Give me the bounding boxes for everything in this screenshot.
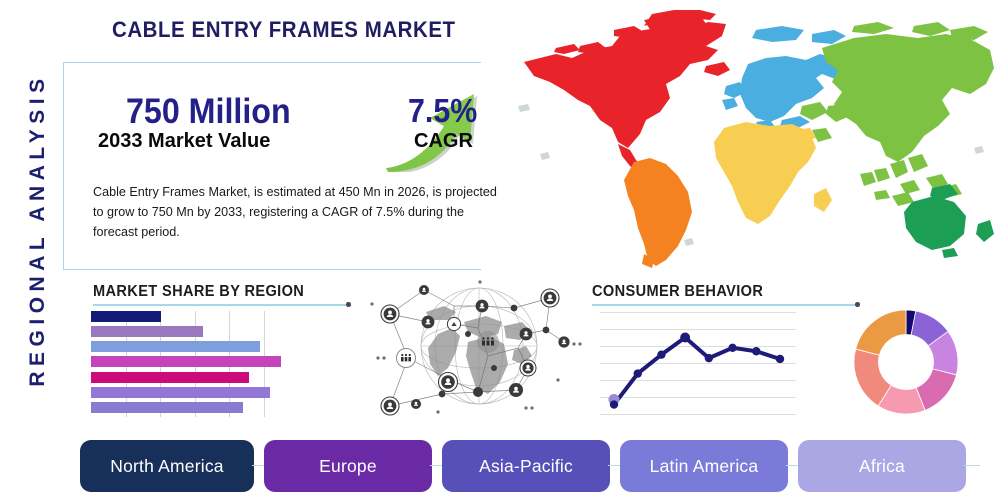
bar-chart-bar[interactable]: [91, 356, 281, 367]
section-rule: [93, 304, 347, 306]
line-chart-plot: [600, 312, 796, 416]
bar-chart-bar[interactable]: [91, 326, 203, 337]
rule-end-dot: [346, 302, 351, 307]
region-pill-asia-pacific[interactable]: Asia-Pacific: [442, 440, 610, 492]
cagr-figure: 7.5%: [408, 92, 477, 130]
segment-donut-chart: Segment 1: 3Segment 2: 12Segment 3: 14Se…: [852, 308, 960, 416]
bar-track: [91, 311, 281, 322]
rule-end-dot: [855, 302, 860, 307]
kpi-row: 750 Million 2033 Market Value 7.5% CAGR: [78, 92, 498, 170]
line-chart-marker[interactable]: [634, 369, 642, 377]
region-pill-label: Asia-Pacific: [479, 456, 573, 477]
cagr-caption: CAGR: [414, 130, 473, 153]
line-chart-marker[interactable]: [776, 355, 784, 363]
region-pill-label: Europe: [319, 456, 377, 477]
line-chart-marker[interactable]: [680, 332, 690, 342]
line-chart-marker[interactable]: [705, 354, 713, 362]
bar-chart-bar[interactable]: [91, 311, 161, 322]
line-chart-marker[interactable]: [728, 344, 736, 352]
bar-chart-bar[interactable]: [91, 372, 249, 383]
line-chart-marker[interactable]: [657, 350, 665, 358]
bar-track: [91, 326, 281, 337]
regional-analysis-label: REGIONAL ANALYSIS: [26, 20, 50, 440]
bar-chart-bar[interactable]: [91, 387, 270, 398]
page-title: CABLE ENTRY FRAMES MARKET: [112, 17, 456, 43]
bar-chart-bar[interactable]: [91, 402, 243, 413]
region-pill-label: Africa: [859, 456, 905, 477]
region-pill-label: North America: [110, 456, 223, 477]
region-pill-north-america[interactable]: North America: [80, 440, 254, 492]
market-share-title: MARKET SHARE BY REGION: [93, 283, 332, 301]
market-description: Cable Entry Frames Market, is estimated …: [93, 182, 497, 242]
market-value-figure: 750 Million: [126, 92, 291, 132]
consumer-behavior-line-chart: [600, 312, 796, 416]
line-chart-marker[interactable]: [610, 400, 618, 408]
section-rule: [592, 304, 856, 306]
donut-plot: Segment 1: 3Segment 2: 12Segment 3: 14Se…: [852, 308, 960, 416]
bar-track: [91, 356, 281, 367]
infographic-root: REGIONAL ANALYSIS CABLE ENTRY FRAMES MAR…: [0, 0, 1000, 500]
bar-track: [91, 387, 281, 398]
bar-track: [91, 402, 281, 413]
side-label: REGIONAL ANALYSIS: [0, 0, 58, 500]
region-pill-europe[interactable]: Europe: [264, 440, 432, 492]
consumer-behavior-section-header: CONSUMER BEHAVIOR: [592, 283, 856, 306]
market-share-bar-chart: [91, 311, 281, 417]
bar-chart-bar[interactable]: [91, 341, 260, 352]
line-chart-marker[interactable]: [752, 347, 760, 355]
bar-track: [91, 341, 281, 352]
bar-track: [91, 372, 281, 383]
pill-connector: [964, 465, 980, 466]
region-pill-latin-america[interactable]: Latin America: [620, 440, 788, 492]
market-share-section-header: MARKET SHARE BY REGION: [93, 283, 347, 306]
region-pill-africa[interactable]: Africa: [798, 440, 966, 492]
global-network-icon: [368, 272, 590, 424]
region-pill-label: Latin America: [650, 456, 759, 477]
region-pill-row: North AmericaEuropeAsia-PacificLatin Ame…: [80, 440, 992, 492]
donut-segment[interactable]: Segment 7: 21: [856, 310, 906, 355]
market-value-caption: 2033 Market Value: [98, 130, 270, 153]
consumer-behavior-title: CONSUMER BEHAVIOR: [592, 283, 840, 301]
world-map-icon: [494, 2, 1000, 270]
